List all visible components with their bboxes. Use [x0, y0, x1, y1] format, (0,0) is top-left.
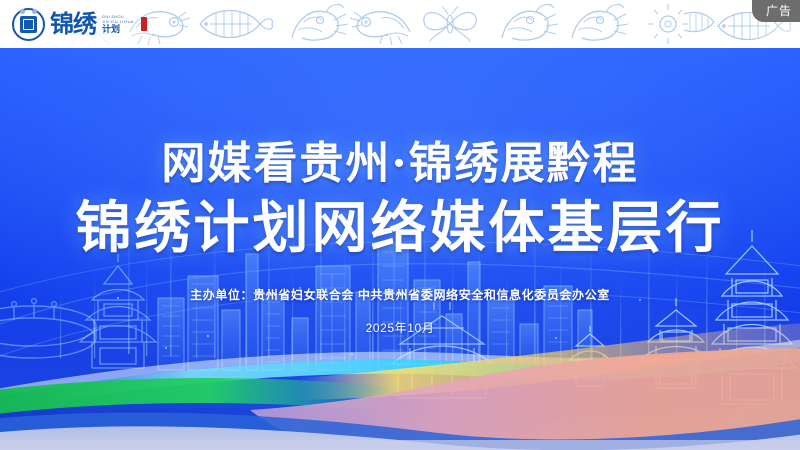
logo-subtext: GUI ZHOU JIN XIU JI HUA 计划: [102, 14, 134, 34]
logo-wordmark: 锦绣: [50, 12, 96, 36]
logo-plan-label: 计划: [102, 25, 134, 34]
emblem-inner-glyph: [20, 16, 37, 33]
logo-red-seal-icon: [141, 17, 147, 31]
brand-logo[interactable]: 锦绣 GUI ZHOU JIN XIU JI HUA 计划: [12, 5, 147, 43]
poster-stage: 网媒看贵州·锦绣展黔程 锦绣计划网络媒体基层行 主办单位：贵州省妇女联合会 中共…: [0, 48, 800, 450]
emblem-dot-right: [32, 9, 37, 14]
top-banner: 锦绣 GUI ZHOU JIN XIU JI HUA 计划 广告: [0, 0, 800, 48]
poster-background-art: [0, 48, 800, 450]
emblem-dot-left: [20, 9, 25, 14]
ad-badge[interactable]: 广告: [752, 0, 800, 22]
jinxiu-circular-emblem-icon: [12, 8, 45, 41]
ad-poster[interactable]: 锦绣 GUI ZHOU JIN XIU JI HUA 计划 广告: [0, 0, 800, 450]
